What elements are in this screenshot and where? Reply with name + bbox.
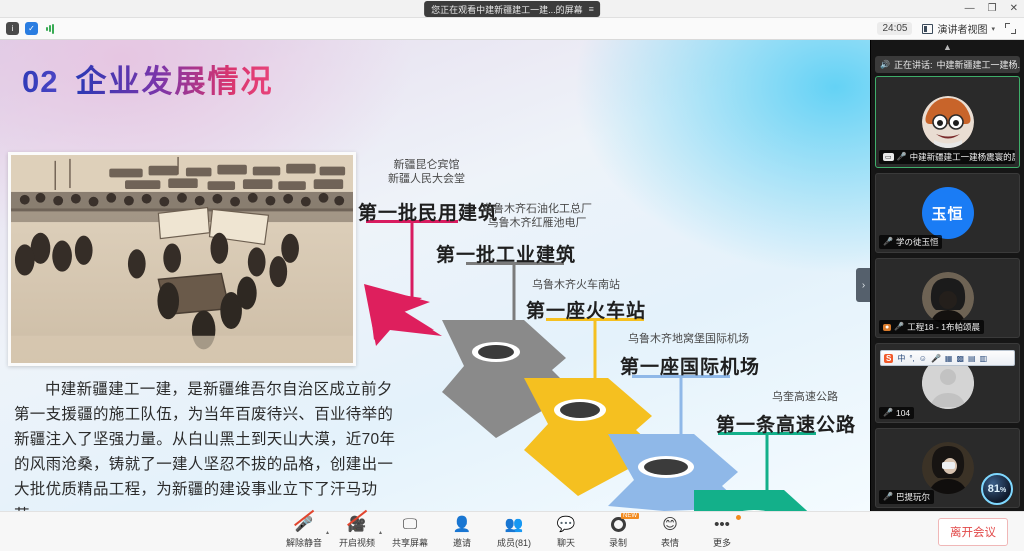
ime-logo-icon: S bbox=[884, 354, 893, 363]
milestone-label-2: 乌鲁木齐石油化工总厂 乌鲁木齐红雁池电厂 bbox=[482, 202, 592, 231]
screen-sharing-notice[interactable]: 您正在观看中建新疆建工一建...的屏幕 ≡ bbox=[424, 1, 600, 17]
share-screen-label: 共享屏幕 bbox=[392, 536, 428, 549]
ime-skin-icon[interactable]: ▩ bbox=[956, 354, 964, 363]
avatar: 玉恒 bbox=[922, 187, 974, 239]
chevron-down-icon[interactable]: ▾ bbox=[991, 25, 995, 33]
start-video-button[interactable]: 🎥 开启视频 bbox=[331, 515, 383, 549]
slide-section-title: 企业发展情况 bbox=[75, 56, 273, 101]
participant-tile[interactable]: S 中 °, ☺ 🎤 ▦ ▩ ▤ ▥ 🎤 104 bbox=[875, 343, 1020, 423]
participant-rail: ▲ 🔊 正在讲话: 中建新疆建工一建杨... ▭ 🎤 bbox=[870, 40, 1024, 511]
participants-label: 成员(81) bbox=[497, 536, 531, 549]
participant-name: 工程18 - 1布帕颂晨 bbox=[907, 321, 980, 333]
video-off-icon: 🎥 bbox=[348, 515, 367, 534]
ime-lang-icon[interactable]: 中 bbox=[897, 353, 905, 364]
more-badge-dot bbox=[736, 515, 741, 520]
milestone-main-1: 第一批民用建筑 bbox=[358, 198, 498, 225]
milestone-sub-1-line1: 新疆昆仑宾馆 bbox=[388, 158, 465, 172]
speaker-icon: 🔊 bbox=[880, 61, 890, 69]
leave-meeting-button[interactable]: 离开会议 bbox=[938, 518, 1008, 546]
avatar bbox=[922, 96, 974, 148]
chevron-right-icon: › bbox=[862, 280, 865, 291]
ime-voice-icon[interactable]: 🎤 bbox=[931, 354, 941, 363]
participant-name: 巴提玩尔 bbox=[896, 491, 930, 503]
mic-muted-icon: 🎤 bbox=[295, 515, 314, 534]
ime-toolbar[interactable]: S 中 °, ☺ 🎤 ▦ ▩ ▤ ▥ bbox=[880, 350, 1015, 366]
invite-label: 邀请 bbox=[453, 536, 471, 549]
participant-tile[interactable]: ▭ 🎤 中建新疆建工一建杨震寰的屏... bbox=[875, 76, 1020, 168]
participant-tile[interactable]: 🎤 巴提玩尔 81 % bbox=[875, 428, 1020, 508]
participant-name-chip: 🎤 巴提玩尔 bbox=[879, 490, 934, 504]
shield-icon[interactable]: ✓ bbox=[25, 22, 38, 35]
slide-title: 02 企业发展情况 bbox=[22, 56, 273, 101]
avatar-cartoon-image bbox=[922, 96, 974, 148]
meeting-control-bar: 🎤 解除静音 ▴ 🎥 开启视频 ▴ 🖵 共享屏幕 👤 邀请 👥 成员(81) bbox=[0, 511, 1024, 551]
milestone-arrow-diagram: 新疆昆仑宾馆 新疆人民大会堂 第一批民用建筑 乌鲁木齐石油化工总厂 乌鲁木齐红雁… bbox=[356, 40, 870, 511]
meeting-timer: 24:05 bbox=[877, 22, 912, 35]
view-mode-label: 演讲者视图 bbox=[937, 21, 987, 36]
emoji-button[interactable]: 😊 表情 bbox=[644, 515, 696, 549]
active-speaker-banner: 🔊 正在讲话: 中建新疆建工一建杨... bbox=[875, 56, 1020, 73]
milestone-main-5: 第一条高速公路 bbox=[716, 410, 856, 437]
milestone-sub-2-line2: 乌鲁木齐红雁池电厂 bbox=[482, 216, 592, 230]
participant-name-chip: 🎤 学の徒玉恒 bbox=[879, 235, 942, 249]
close-button[interactable]: ✕ bbox=[1010, 4, 1018, 14]
mic-icon: 🎤 bbox=[883, 409, 893, 417]
mic-icon: 🎤 bbox=[883, 493, 893, 501]
window-title-bar: 您正在观看中建新疆建工一建...的屏幕 ≡ — ❐ ✕ bbox=[0, 0, 1024, 18]
invite-button[interactable]: 👤 邀请 bbox=[436, 515, 488, 549]
status-badge-unit: % bbox=[1000, 487, 1006, 494]
sharing-notice-text: 您正在观看中建新疆建工一建...的屏幕 bbox=[431, 3, 583, 16]
start-video-label: 开启视频 bbox=[339, 536, 375, 549]
meeting-controls-group: 🎤 解除静音 ▴ 🎥 开启视频 ▴ 🖵 共享屏幕 👤 邀请 👥 成员(81) bbox=[278, 515, 748, 549]
participant-tile[interactable]: ● 🎤 工程18 - 1布帕颂晨 bbox=[875, 258, 1020, 338]
emoji-label: 表情 bbox=[661, 536, 679, 549]
rail-scroll-up-button[interactable]: ▲ bbox=[871, 40, 1024, 54]
meeting-window: 您正在观看中建新疆建工一建...的屏幕 ≡ — ❐ ✕ i ✓ 24:05 演讲… bbox=[0, 0, 1024, 551]
record-button[interactable]: NEW 录制 bbox=[592, 515, 644, 549]
chat-label: 聊天 bbox=[557, 536, 575, 549]
minimize-button[interactable]: — bbox=[965, 4, 975, 14]
milestone-sub-2-line1: 乌鲁木齐石油化工总厂 bbox=[482, 202, 592, 216]
participant-tile[interactable]: 玉恒 🎤 学の徒玉恒 bbox=[875, 173, 1020, 253]
mic-icon: 🎤 bbox=[897, 153, 907, 161]
participants-button[interactable]: 👥 成员(81) bbox=[488, 515, 540, 549]
milestone-main-4: 第一座国际机场 bbox=[620, 352, 760, 379]
record-label: 录制 bbox=[609, 536, 627, 549]
participant-name-chip: ● 🎤 工程18 - 1布帕颂晨 bbox=[879, 320, 984, 334]
milestone-main-2: 第一批工业建筑 bbox=[436, 240, 576, 267]
chat-button[interactable]: 💬 聊天 bbox=[540, 515, 592, 549]
share-screen-icon: 🖵 bbox=[403, 515, 417, 534]
participant-name-chip: ▭ 🎤 中建新疆建工一建杨震寰的屏... bbox=[879, 150, 1015, 164]
milestone-main-3: 第一座火车站 bbox=[526, 296, 646, 323]
status-icon-group: i ✓ bbox=[0, 22, 57, 35]
slide-body-text: 中建新疆建工一建，是新疆维吾尔自治区成立前夕第一支援疆的施工队伍，为当年百废待兴… bbox=[14, 377, 406, 511]
avatar bbox=[922, 272, 974, 324]
status-badge: 81 % bbox=[981, 473, 1013, 505]
restore-button[interactable]: ❐ bbox=[988, 4, 997, 14]
participant-name: 学の徒玉恒 bbox=[896, 236, 939, 248]
participant-name: 中建新疆建工一建杨震寰的屏... bbox=[910, 151, 1015, 163]
info-icon[interactable]: i bbox=[6, 22, 19, 35]
mic-icon: 🎤 bbox=[883, 238, 893, 246]
signal-icon[interactable] bbox=[44, 22, 57, 35]
milestone-label-1: 新疆昆仑宾馆 新疆人民大会堂 bbox=[388, 158, 465, 187]
more-button[interactable]: ••• 更多 bbox=[696, 515, 748, 549]
ime-menu-icon[interactable]: ▥ bbox=[980, 354, 988, 363]
active-speaker-prefix: 正在讲话: bbox=[894, 58, 933, 71]
milestone-sub-1-line2: 新疆人民大会堂 bbox=[388, 172, 465, 186]
host-icon: ● bbox=[883, 324, 891, 331]
window-controls: — ❐ ✕ bbox=[965, 0, 1018, 18]
participant-name: 104 bbox=[896, 408, 910, 418]
slide-section-number: 02 bbox=[22, 64, 58, 100]
arrow-chevrons bbox=[356, 40, 870, 511]
chat-icon: 💬 bbox=[557, 515, 576, 534]
share-screen-button[interactable]: 🖵 共享屏幕 bbox=[384, 515, 436, 549]
collapse-panel-handle[interactable]: › bbox=[856, 268, 871, 302]
view-mode-selector[interactable]: 演讲者视图 ▾ bbox=[922, 21, 995, 36]
milestone-sub-5: 乌奎高速公路 bbox=[772, 390, 838, 404]
invite-icon: 👤 bbox=[453, 515, 472, 534]
historical-photo-image bbox=[11, 155, 353, 363]
avatar-photo-image bbox=[922, 442, 974, 494]
avatar-initials: 玉恒 bbox=[931, 203, 963, 224]
screen-share-icon: ▭ bbox=[883, 153, 894, 161]
participants-icon: 👥 bbox=[505, 515, 524, 534]
speaker-view-icon bbox=[922, 24, 933, 34]
milestone-sub-3: 乌鲁木齐火车南站 bbox=[532, 278, 620, 292]
avatar-photo-image bbox=[922, 272, 974, 324]
active-speaker-name: 中建新疆建工一建杨... bbox=[936, 58, 1020, 71]
ime-keyboard-icon[interactable]: ▦ bbox=[945, 354, 953, 363]
participant-name-chip: 🎤 104 bbox=[879, 407, 914, 419]
fullscreen-icon[interactable] bbox=[1005, 23, 1016, 34]
ime-emoji-icon[interactable]: ☺ bbox=[919, 354, 927, 363]
historical-photo bbox=[8, 152, 356, 366]
mic-icon: 🎤 bbox=[894, 323, 904, 331]
milestone-sub-4: 乌鲁木齐地窝堡国际机场 bbox=[628, 332, 749, 346]
mute-button[interactable]: 🎤 解除静音 bbox=[278, 515, 330, 549]
mute-button-label: 解除静音 bbox=[286, 536, 322, 549]
ime-store-icon[interactable]: ▤ bbox=[968, 354, 976, 363]
more-label: 更多 bbox=[713, 536, 731, 549]
toolbar-right-group: 24:05 演讲者视图 ▾ bbox=[877, 21, 1024, 36]
sharing-menu-icon[interactable]: ≡ bbox=[589, 4, 593, 14]
avatar bbox=[922, 442, 974, 494]
more-icon: ••• bbox=[714, 515, 730, 534]
ime-punct-icon[interactable]: °, bbox=[909, 354, 914, 363]
emoji-icon: 😊 bbox=[662, 515, 678, 534]
new-badge: NEW bbox=[621, 513, 639, 519]
shared-screen-stage: 02 企业发展情况 bbox=[0, 40, 870, 511]
secondary-toolbar: i ✓ 24:05 演讲者视图 ▾ bbox=[0, 18, 1024, 40]
status-badge-value: 81 bbox=[988, 483, 1000, 495]
